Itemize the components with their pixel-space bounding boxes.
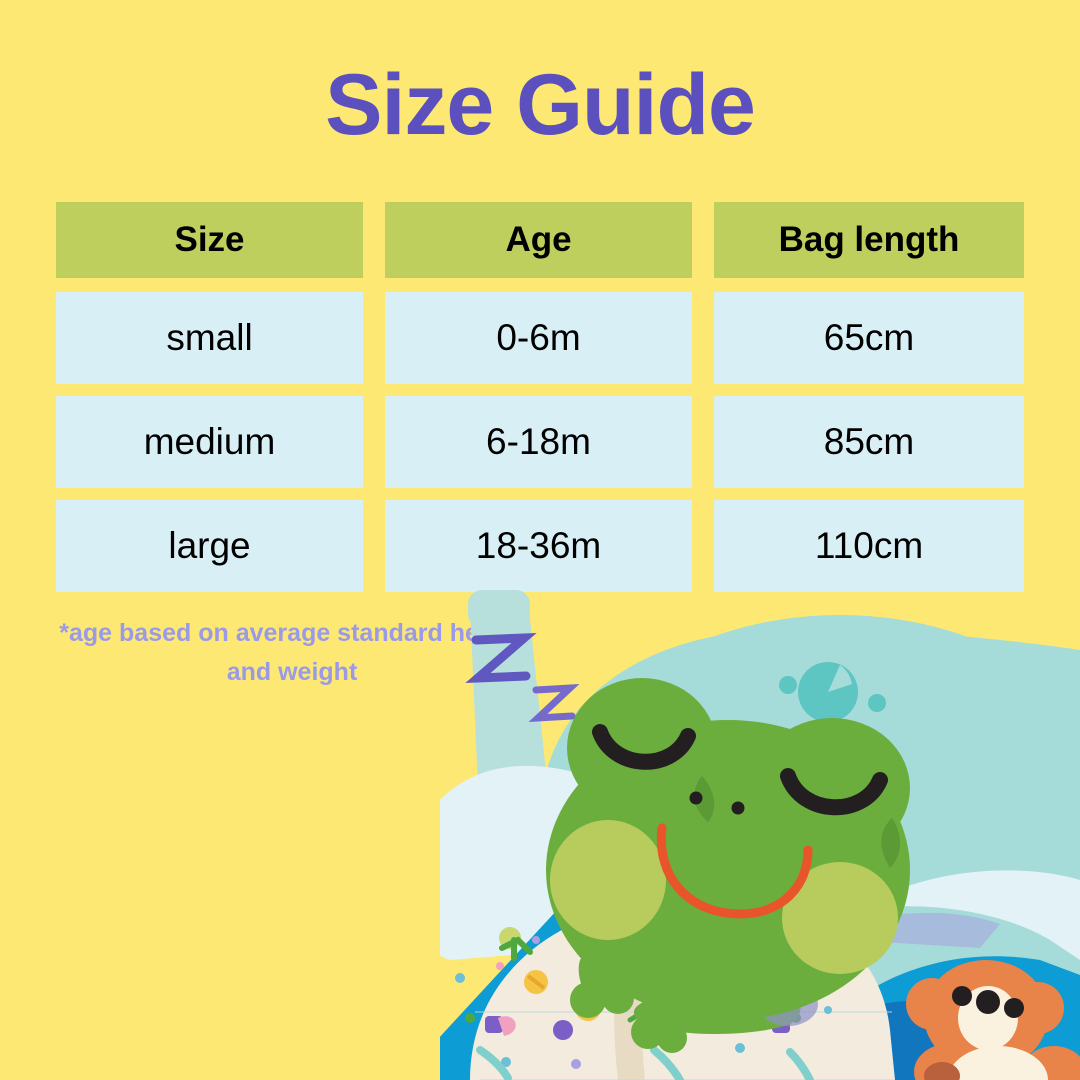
sleeping-frog-illustration: [440, 580, 1080, 1080]
cell-bag-length: 85cm: [714, 396, 1024, 488]
page-title: Size Guide: [0, 62, 1080, 148]
cell-bag-length: 65cm: [714, 292, 1024, 384]
cell-bag-length: 110cm: [714, 500, 1024, 592]
cell-age: 0-6m: [385, 292, 692, 384]
cell-age: 18-36m: [385, 500, 692, 592]
size-guide-table: Size Age Bag length small 0-6m 65cm medi…: [56, 202, 1024, 604]
column-header-size: Size: [56, 202, 363, 278]
cell-size: small: [56, 292, 363, 384]
table-row: large 18-36m 110cm: [56, 500, 1024, 592]
cell-size: large: [56, 500, 363, 592]
table-header-row: Size Age Bag length: [56, 202, 1024, 278]
table-row: small 0-6m 65cm: [56, 292, 1024, 384]
column-header-age: Age: [385, 202, 692, 278]
sleep-z-mark-small: [536, 688, 572, 718]
table-row: medium 6-18m 85cm: [56, 396, 1024, 488]
column-header-bag-length: Bag length: [714, 202, 1024, 278]
cell-age: 6-18m: [385, 396, 692, 488]
cell-size: medium: [56, 396, 363, 488]
